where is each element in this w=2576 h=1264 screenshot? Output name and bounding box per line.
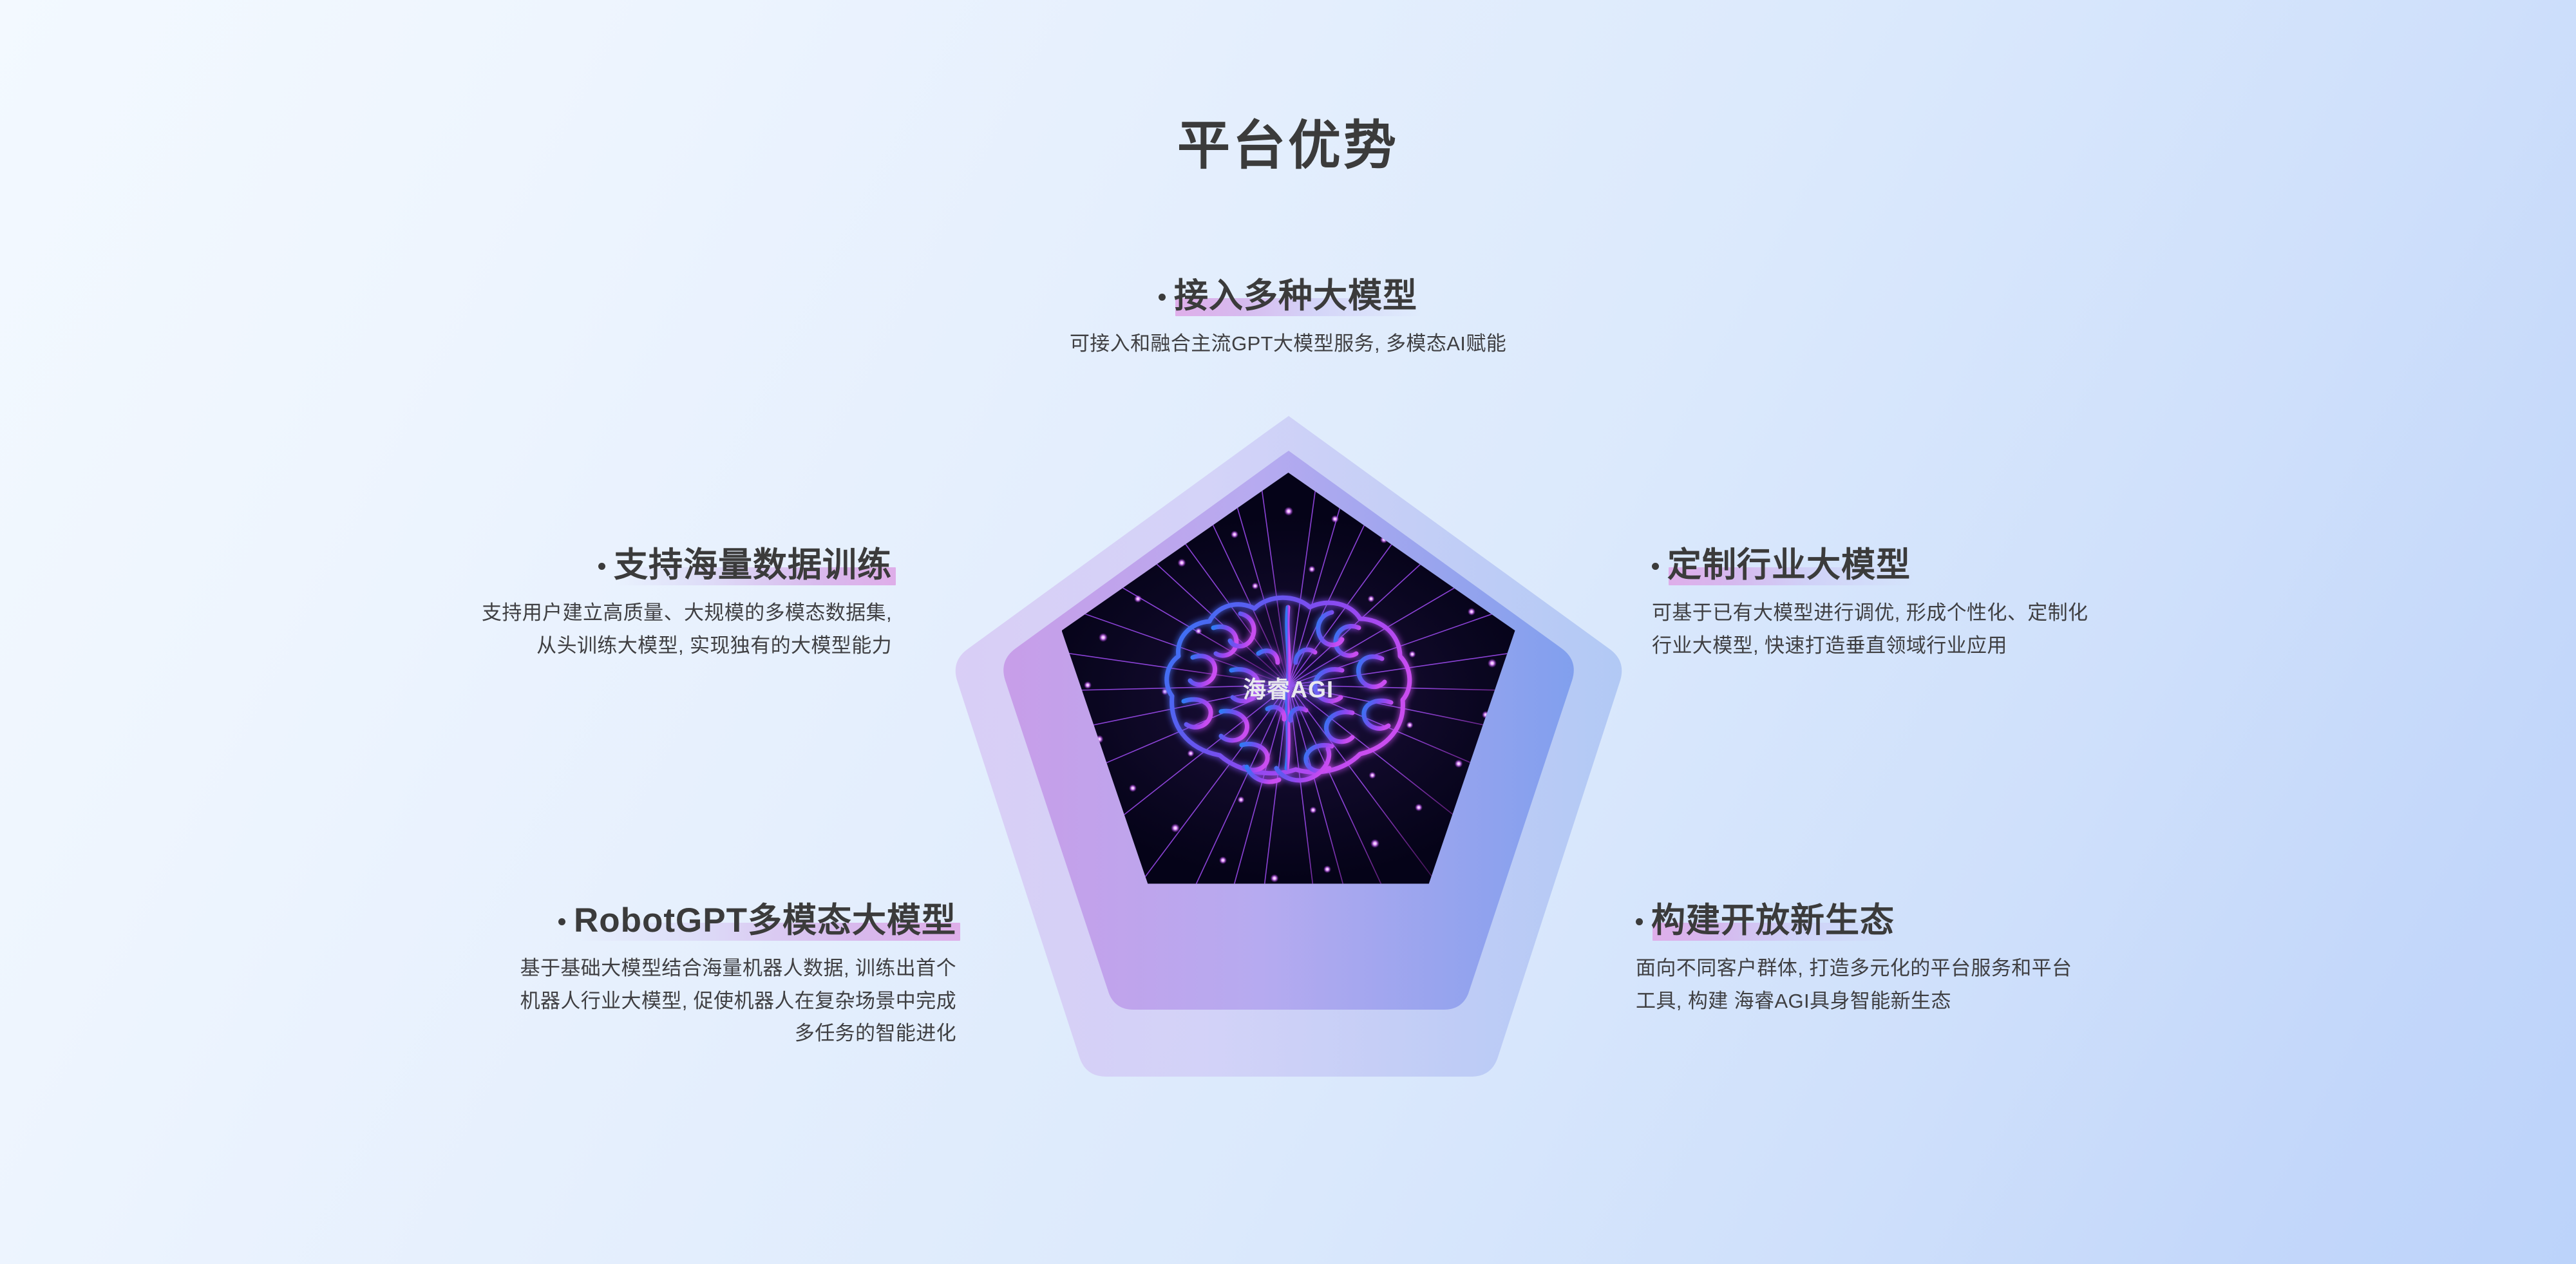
feature-custom-industry-model: 定制行业大模型 可基于已有大模型进行调优, 形成个性化、定制化 行业大模型, 快… [1652, 546, 2425, 662]
feature-heading: 定制行业大模型 [1652, 546, 1911, 584]
feature-heading-text: 构建开放新生态 [1651, 901, 1895, 939]
bullet-dot-icon [1159, 294, 1166, 301]
feature-description: 可接入和融合主流GPT大模型服务, 多模态AI赋能 [837, 328, 1739, 360]
feature-heading-text: 定制行业大模型 [1667, 546, 1911, 584]
feature-heading: 构建开放新生态 [1636, 901, 1895, 939]
pentagon-core: 海睿AGI [1062, 473, 1515, 905]
feature-open-ecosystem: 构建开放新生态 面向不同客户群体, 打造多元化的平台服务和平台 工具, 构建 海… [1636, 901, 2428, 1017]
bullet-dot-icon [1636, 918, 1643, 925]
feature-massive-data-training: 支持海量数据训练 支持用户建立高质量、大规模的多模态数据集, 从头训练大模型, … [180, 546, 892, 662]
feature-desc-line: 工具, 构建 海睿AGI具身智能新生态 [1636, 985, 2428, 1017]
feature-access-models: 接入多种大模型 可接入和融合主流GPT大模型服务, 多模态AI赋能 [837, 277, 1739, 361]
feature-desc-line: 基于基础大模型结合海量机器人数据, 训练出首个 [180, 952, 956, 985]
bullet-dot-icon [1652, 563, 1659, 570]
feature-desc-line: 面向不同客户群体, 打造多元化的平台服务和平台 [1636, 952, 2428, 985]
feature-desc-line: 可基于已有大模型进行调优, 形成个性化、定制化 [1652, 597, 2425, 629]
feature-description: 支持用户建立高质量、大规模的多模态数据集, 从头训练大模型, 实现独有的大模型能… [180, 597, 892, 661]
feature-heading: 支持海量数据训练 [598, 546, 892, 584]
feature-desc-line: 支持用户建立高质量、大规模的多模态数据集, [180, 597, 892, 629]
feature-desc-line: 多任务的智能进化 [180, 1017, 956, 1050]
feature-heading: RobotGPT多模态大模型 [558, 901, 956, 939]
infographic-stage: 平台优势 [0, 0, 2576, 1264]
feature-robotgpt-multimodal-model: RobotGPT多模态大模型 基于基础大模型结合海量机器人数据, 训练出首个 机… [180, 901, 956, 1050]
feature-desc-line: 机器人行业大模型, 促使机器人在复杂场景中完成 [180, 985, 956, 1017]
feature-heading-text: RobotGPT多模态大模型 [574, 901, 956, 939]
bullet-dot-icon [598, 563, 605, 570]
feature-desc-line: 行业大模型, 快速打造垂直领域行业应用 [1652, 630, 2425, 662]
feature-heading: 接入多种大模型 [1159, 277, 1417, 315]
feature-description: 可基于已有大模型进行调优, 形成个性化、定制化 行业大模型, 快速打造垂直领域行… [1652, 597, 2425, 661]
center-label: 海睿AGI [1062, 671, 1515, 704]
feature-description: 基于基础大模型结合海量机器人数据, 训练出首个 机器人行业大模型, 促使机器人在… [180, 952, 956, 1050]
feature-desc-line: 可接入和融合主流GPT大模型服务, 多模态AI赋能 [837, 328, 1739, 360]
page-title: 平台优势 [0, 120, 2576, 173]
feature-heading-text: 支持海量数据训练 [614, 546, 892, 584]
feature-description: 面向不同客户群体, 打造多元化的平台服务和平台 工具, 构建 海睿AGI具身智能… [1636, 952, 2428, 1017]
feature-desc-line: 从头训练大模型, 实现独有的大模型能力 [180, 630, 892, 662]
center-pentagon-graphic: 海睿AGI [929, 394, 1647, 1077]
feature-heading-text: 接入多种大模型 [1174, 277, 1417, 315]
bullet-dot-icon [558, 918, 565, 925]
